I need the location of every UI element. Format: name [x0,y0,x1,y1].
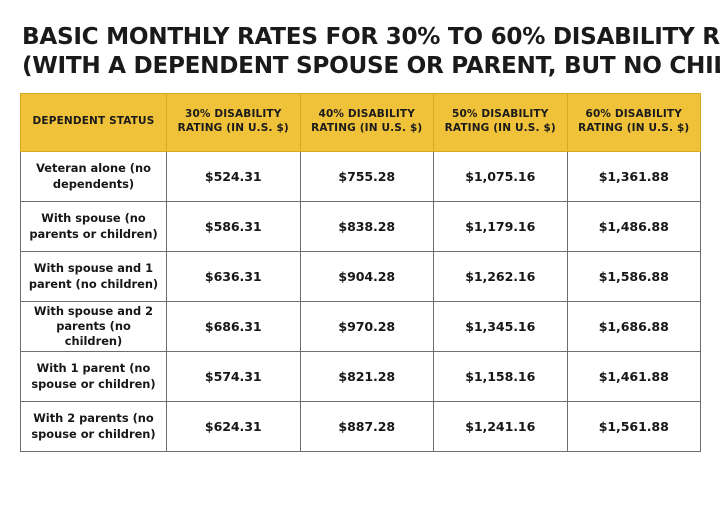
status-line: spouse or children) [27,377,160,392]
rates-table-container: DEPENDENT STATUS 30% DISABILITY RATING (… [20,93,700,452]
column-header-line: RATING (IN U.S. $) [438,122,563,136]
cell-rate-60: $1,461.88 [567,352,701,402]
cell-rate-30: $624.31 [167,402,301,452]
table-body: Veteran alone (no dependents) $524.31 $7… [21,152,701,452]
column-header-30-percent: 30% DISABILITY RATING (IN U.S. $) [167,94,301,152]
table-header-row: DEPENDENT STATUS 30% DISABILITY RATING (… [21,94,701,152]
cell-rate-60: $1,586.88 [567,252,701,302]
cell-rate-50: $1,262.16 [434,252,568,302]
cell-dependent-status: With spouse and 2 parents (no children) [21,302,167,352]
status-line: parent (no children) [27,277,160,292]
cell-rate-40: $755.28 [300,152,434,202]
table-row: With spouse (no parents or children) $58… [21,202,701,252]
cell-rate-30: $686.31 [167,302,301,352]
column-header-line: 30% DISABILITY [171,108,296,122]
rates-table-page: BASIC MONTHLY RATES FOR 30% TO 60% DISAB… [0,0,720,510]
status-line: With 2 parents (no [27,411,160,426]
cell-dependent-status: With spouse and 1 parent (no children) [21,252,167,302]
column-header-line: 40% DISABILITY [305,108,430,122]
column-header-line: DEPENDENT STATUS [25,115,162,129]
cell-rate-30: $636.31 [167,252,301,302]
cell-rate-50: $1,345.16 [434,302,568,352]
cell-dependent-status: With 2 parents (no spouse or children) [21,402,167,452]
table-row: With 2 parents (no spouse or children) $… [21,402,701,452]
column-header-50-percent: 50% DISABILITY RATING (IN U.S. $) [434,94,568,152]
table-row: With spouse and 1 parent (no children) $… [21,252,701,302]
cell-rate-30: $524.31 [167,152,301,202]
status-line: With 1 parent (no [27,361,160,376]
column-header-line: 60% DISABILITY [572,108,697,122]
column-header-line: RATING (IN U.S. $) [572,122,697,136]
page-title: BASIC MONTHLY RATES FOR 30% TO 60% DISAB… [0,0,720,79]
cell-rate-30: $574.31 [167,352,301,402]
table-header: DEPENDENT STATUS 30% DISABILITY RATING (… [21,94,701,152]
cell-rate-40: $970.28 [300,302,434,352]
cell-rate-40: $904.28 [300,252,434,302]
status-line: With spouse (no [27,211,160,226]
page-title-line-2: (WITH A DEPENDENT SPOUSE OR PARENT, BUT … [22,51,688,80]
cell-rate-50: $1,158.16 [434,352,568,402]
status-line: spouse or children) [27,427,160,442]
status-line: With spouse and 1 [27,261,160,276]
column-header-line: RATING (IN U.S. $) [171,122,296,136]
column-header-line: 50% DISABILITY [438,108,563,122]
column-header-dependent-status: DEPENDENT STATUS [21,94,167,152]
table-row: Veteran alone (no dependents) $524.31 $7… [21,152,701,202]
status-line: With spouse and 2 [27,304,160,319]
column-header-60-percent: 60% DISABILITY RATING (IN U.S. $) [567,94,701,152]
disability-rates-table: DEPENDENT STATUS 30% DISABILITY RATING (… [20,93,701,452]
cell-rate-60: $1,361.88 [567,152,701,202]
table-row: With 1 parent (no spouse or children) $5… [21,352,701,402]
status-line: parents or children) [27,227,160,242]
cell-rate-60: $1,561.88 [567,402,701,452]
status-line: dependents) [27,177,160,192]
cell-dependent-status: With 1 parent (no spouse or children) [21,352,167,402]
status-line: Veteran alone (no [27,161,160,176]
cell-dependent-status: With spouse (no parents or children) [21,202,167,252]
column-header-line: RATING (IN U.S. $) [305,122,430,136]
status-line: parents (no children) [27,319,160,350]
cell-rate-30: $586.31 [167,202,301,252]
cell-rate-60: $1,486.88 [567,202,701,252]
cell-rate-50: $1,075.16 [434,152,568,202]
cell-rate-50: $1,241.16 [434,402,568,452]
cell-rate-40: $838.28 [300,202,434,252]
cell-rate-50: $1,179.16 [434,202,568,252]
cell-rate-60: $1,686.88 [567,302,701,352]
cell-dependent-status: Veteran alone (no dependents) [21,152,167,202]
page-title-line-1: BASIC MONTHLY RATES FOR 30% TO 60% DISAB… [22,22,688,51]
cell-rate-40: $821.28 [300,352,434,402]
cell-rate-40: $887.28 [300,402,434,452]
table-row: With spouse and 2 parents (no children) … [21,302,701,352]
column-header-40-percent: 40% DISABILITY RATING (IN U.S. $) [300,94,434,152]
